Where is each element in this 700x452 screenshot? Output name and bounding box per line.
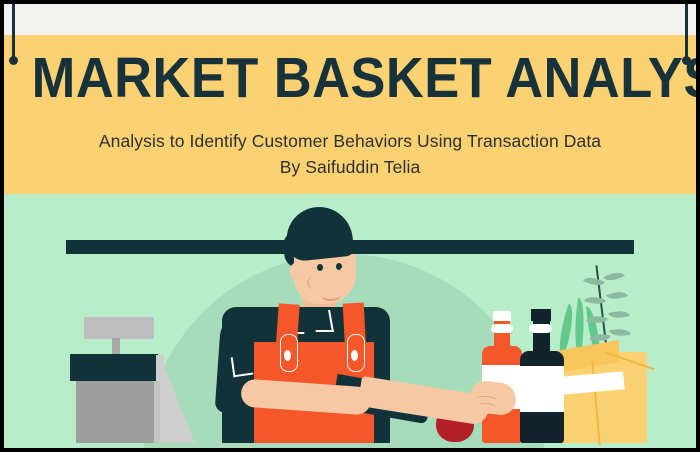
title-slide: MARKET BASKET ANALYSIS Analysis to Ident…: [0, 0, 700, 452]
character-cheek-line: [307, 276, 323, 290]
subtitle-line-2: By Saifuddin Telia: [64, 154, 636, 180]
subtitle-line-1: Analysis to Identify Customer Behaviors …: [64, 128, 636, 154]
checkout-counter: [66, 240, 634, 254]
orange-bottle-cap-icon: [493, 311, 511, 321]
hanging-pin-left-dot-icon: [9, 56, 18, 65]
cash-register-display-stem: [112, 338, 120, 355]
cash-register-shadow: [159, 354, 195, 443]
subtitle-block: Analysis to Identify Customer Behaviors …: [64, 128, 636, 180]
top-white-strip: [4, 4, 696, 35]
apron-button-left-icon: [284, 350, 291, 361]
orange-bottle-neck: [494, 316, 510, 350]
character-sleeve-crease: [231, 355, 254, 378]
apron-button-right-icon: [351, 350, 358, 361]
cash-register-body: [76, 381, 154, 443]
character-eye-icon: [317, 264, 323, 271]
cash-register-display-icon: [84, 317, 154, 339]
cash-register-top-panel: [70, 354, 158, 381]
cash-register-body-side: [154, 381, 160, 443]
character-collar-right: [312, 310, 334, 332]
cash-register-top-side: [156, 355, 164, 381]
orange-bottle-ring: [491, 324, 513, 333]
hanging-pin-left-icon: [12, 4, 15, 61]
dark-bottle-ring: [529, 324, 552, 333]
page-title: MARKET BASKET ANALYSIS: [32, 48, 669, 108]
character-ear-icon: [290, 262, 304, 280]
dark-bottle-cap-icon: [531, 309, 551, 321]
dark-bottle-label: [520, 366, 564, 412]
